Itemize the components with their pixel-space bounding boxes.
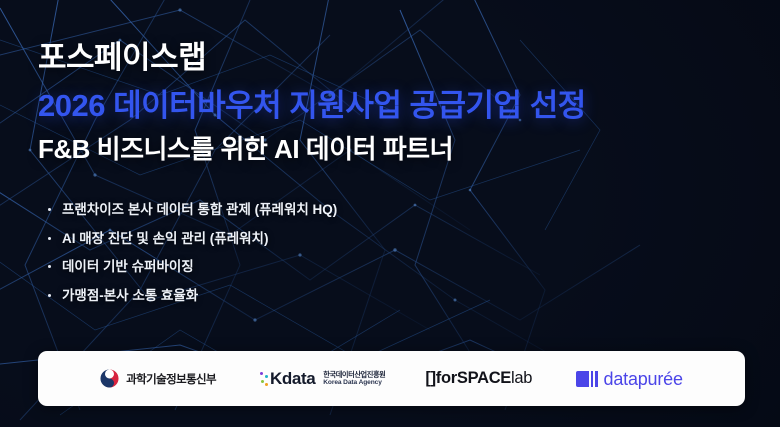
taeguk-icon — [100, 369, 119, 388]
list-item: 프랜차이즈 본사 데이터 통합 관제 (퓨레워치 HQ) — [46, 203, 337, 217]
kdata-dots-icon — [260, 371, 269, 387]
bullet-dot-icon — [48, 237, 51, 240]
forspacelab-wordmark: []forSPACElab — [425, 370, 532, 387]
forspacelab-bold: forSPACE — [436, 369, 511, 387]
feature-bullet-list: 프랜차이즈 본사 데이터 통합 관제 (퓨레워치 HQ) AI 매장 진단 및 … — [46, 203, 337, 317]
headline-program: 2026 데이터바우처 지원사업 공급기업 선정 — [38, 90, 738, 122]
list-item-label: 데이터 기반 슈퍼바이징 — [62, 259, 194, 274]
datapuree-wordmark: datapurée — [604, 370, 683, 388]
list-item-label: AI 매장 진단 및 손익 관리 (퓨레워치) — [62, 231, 268, 246]
logo-datapuree: datapurée — [576, 370, 683, 388]
datapuree-bars-icon — [576, 371, 597, 387]
list-item: 데이터 기반 슈퍼바이징 — [46, 260, 337, 274]
logo-msit: 과학기술정보통신부 — [100, 369, 216, 388]
logo-forspacelab: []forSPACElab — [425, 370, 532, 387]
kdata-name-en: Korea Data Agency — [323, 379, 385, 386]
kdata-letter: K — [270, 370, 282, 387]
list-item: AI 매장 진단 및 손익 관리 (퓨레워치) — [46, 232, 337, 246]
kdata-mark: K data — [260, 370, 315, 387]
list-item-label: 가맹점-본사 소통 효율화 — [62, 288, 198, 303]
headline-tagline: F&B 비즈니스를 위한 AI 데이터 파트너 — [38, 136, 738, 163]
partner-logo-bar: 과학기술정보통신부 K data 한국데이터산업진흥원 Korea Data A… — [38, 351, 745, 406]
logo-kdata: K data 한국데이터산업진흥원 Korea Data Agency — [260, 370, 385, 387]
headline-block: 포스페이스랩 2026 데이터바우처 지원사업 공급기업 선정 F&B 비즈니스… — [38, 42, 738, 163]
forspacelab-bracket: [] — [425, 369, 435, 387]
bullet-dot-icon — [48, 208, 51, 211]
kdata-wordmark: data — [282, 370, 315, 387]
list-item-label: 프랜차이즈 본사 데이터 통합 관제 (퓨레워치 HQ) — [62, 202, 337, 217]
list-item: 가맹점-본사 소통 효율화 — [46, 289, 337, 303]
kdata-name-kr: 한국데이터산업진흥원 — [323, 371, 385, 379]
logo-msit-label: 과학기술정보통신부 — [126, 371, 216, 387]
headline-company: 포스페이스랩 — [38, 42, 738, 74]
bullet-dot-icon — [48, 265, 51, 268]
kdata-agency-names: 한국데이터산업진흥원 Korea Data Agency — [323, 371, 385, 386]
bullet-dot-icon — [48, 294, 51, 297]
forspacelab-light: lab — [511, 369, 532, 387]
promo-slide: 포스페이스랩 2026 데이터바우처 지원사업 공급기업 선정 F&B 비즈니스… — [0, 0, 780, 427]
